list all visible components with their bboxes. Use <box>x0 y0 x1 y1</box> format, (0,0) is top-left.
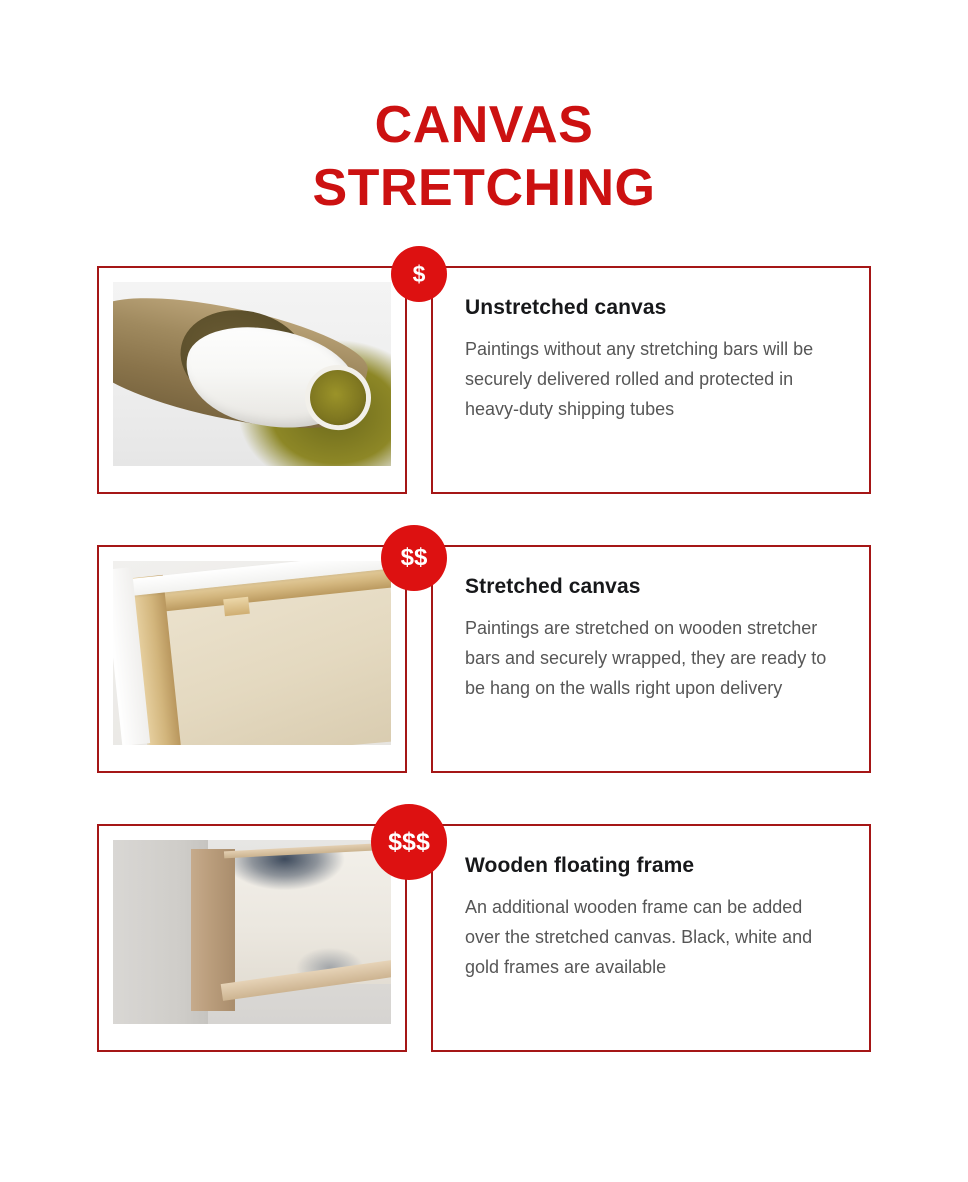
stretched-canvas-photo <box>113 561 391 745</box>
option-row: $$$ Wooden floating frame An additional … <box>97 824 871 1052</box>
price-badge: $$ <box>381 525 447 591</box>
price-badge: $$$ <box>371 804 447 880</box>
option-row: $ Unstretched canvas Paintings without a… <box>97 266 871 494</box>
options-list: $ Unstretched canvas Paintings without a… <box>0 266 968 1052</box>
option-heading: Stretched canvas <box>465 575 835 599</box>
option-description: Paintings are stretched on wooden stretc… <box>465 613 835 703</box>
option-row: $$ Stretched canvas Paintings are stretc… <box>97 545 871 773</box>
option-text-card: Unstretched canvas Paintings without any… <box>431 266 871 494</box>
option-image-card: $ <box>97 266 407 494</box>
price-badge: $ <box>391 246 447 302</box>
unstretched-canvas-photo <box>113 282 391 466</box>
option-heading: Wooden floating frame <box>465 854 835 878</box>
page-title-line-2: STRETCHING <box>0 157 968 220</box>
option-image-card: $$$ <box>97 824 407 1052</box>
option-text-card: Stretched canvas Paintings are stretched… <box>431 545 871 773</box>
option-text-card: Wooden floating frame An additional wood… <box>431 824 871 1052</box>
page-title: CANVAS STRETCHING <box>0 0 968 220</box>
corner-wedge-shape <box>223 597 250 616</box>
option-description: An additional wooden frame can be added … <box>465 892 835 982</box>
page-title-line-1: CANVAS <box>0 94 968 157</box>
option-description: Paintings without any stretching bars wi… <box>465 334 835 424</box>
option-heading: Unstretched canvas <box>465 296 835 320</box>
wooden-floating-frame-photo <box>113 840 391 1024</box>
option-image-card: $$ <box>97 545 407 773</box>
